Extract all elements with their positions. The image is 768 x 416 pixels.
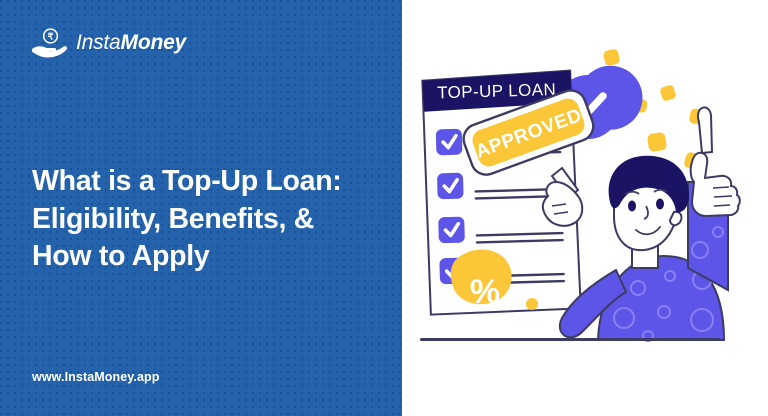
svg-text:₹: ₹ [48, 31, 54, 41]
brand-name-part-1: Insta [76, 31, 121, 54]
percent-symbol: % [470, 273, 500, 311]
character-eye [656, 199, 664, 210]
confetti-square [647, 132, 667, 152]
headline-line-2: Eligibility, Benefits, & [32, 201, 382, 239]
brand-wordmark: InstaMoney [76, 31, 186, 55]
loan-approved-illustration: TOP-UP LOAN [402, 0, 768, 416]
hand-holding-rupee-coin-icon: ₹ [30, 27, 68, 59]
site-url-label[interactable]: www.InstaMoney.app [32, 370, 160, 384]
ground-line [420, 338, 720, 341]
article-hero-banner: ₹ InstaMoney What is a Top-Up Loan: Elig… [0, 0, 768, 416]
confetti-square [603, 48, 621, 66]
character-eye [628, 201, 636, 212]
article-headline: What is a Top-Up Loan: Eligibility, Bene… [32, 163, 382, 276]
confetti-dot [526, 298, 538, 310]
right-illustration-panel: TOP-UP LOAN [402, 0, 768, 416]
confetti-square [659, 84, 677, 102]
brand-name-part-2: Money [121, 31, 187, 54]
brand-logo[interactable]: ₹ InstaMoney [30, 27, 186, 59]
headline-line-1: What is a Top-Up Loan: [32, 163, 382, 201]
headline-line-3: How to Apply [32, 238, 382, 276]
document-title: TOP-UP LOAN [437, 80, 557, 102]
left-blue-panel: ₹ InstaMoney What is a Top-Up Loan: Elig… [0, 0, 402, 416]
index-finger [698, 107, 712, 153]
